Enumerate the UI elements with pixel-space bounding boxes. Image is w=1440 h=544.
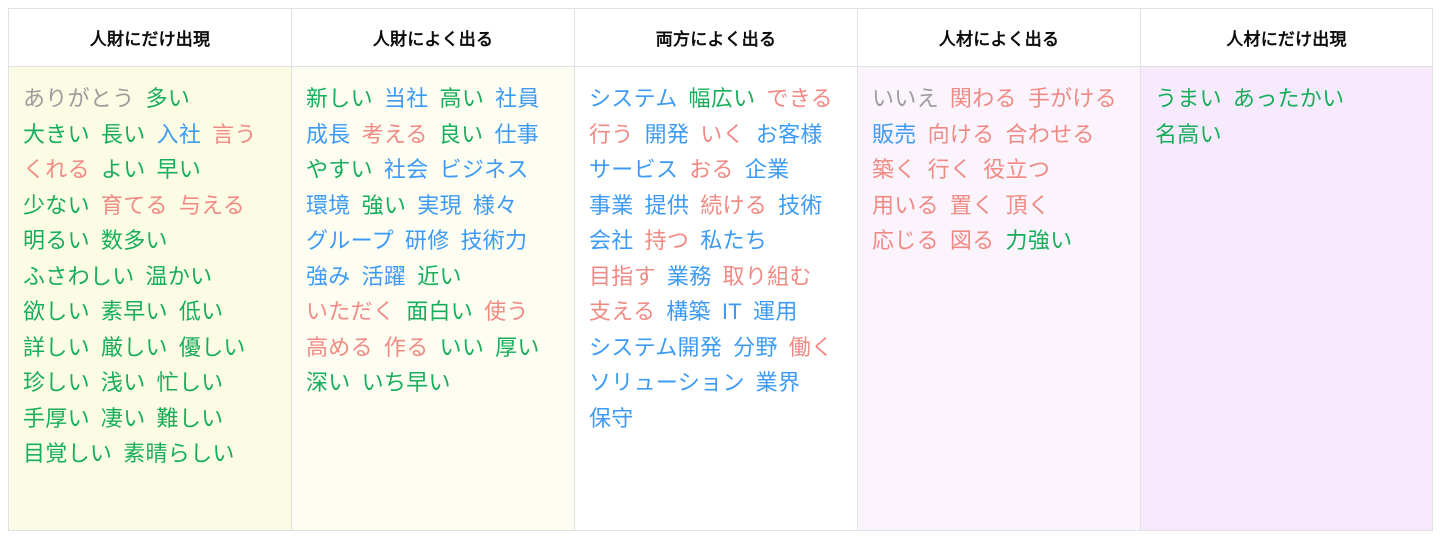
- word-list-4: うまいあったかい名高い: [1155, 81, 1420, 152]
- word-chip: 事業: [589, 193, 634, 218]
- word-chip: 詳しい: [23, 335, 90, 360]
- word-chip: ソリューション: [589, 370, 745, 395]
- word-chip: 使う: [484, 299, 529, 324]
- word-chip: 合わせる: [1006, 122, 1095, 147]
- word-chip: 少ない: [23, 193, 90, 218]
- word-chip: 明るい: [23, 228, 90, 253]
- word-chip: 販売: [872, 122, 917, 147]
- word-chip: 技術: [778, 193, 823, 218]
- word-chip: 手がける: [1028, 86, 1117, 111]
- table-header-row-group: 人財にだけ出現 人財によく出る 両方によく出る 人材によく出る 人材にだけ出現: [9, 9, 1433, 67]
- word-chip: 優しい: [179, 335, 246, 360]
- word-chip: 温かい: [146, 264, 213, 289]
- word-chip: 頂く: [1006, 193, 1051, 218]
- word-chip: 応じる: [872, 228, 939, 253]
- word-chip: 業務: [667, 264, 712, 289]
- word-chip: 幅広い: [689, 86, 756, 111]
- word-chip: あったかい: [1233, 86, 1345, 111]
- word-chip: 面白い: [406, 299, 473, 324]
- word-cell-0: ありがとう多い大きい長い入社言うくれるよい早い少ない育てる与える明るい数多いふさ…: [9, 67, 292, 531]
- word-chip: 深い: [306, 370, 351, 395]
- word-chip: 強み: [306, 264, 351, 289]
- word-chip: 運用: [753, 299, 798, 324]
- word-chip: 社会: [384, 157, 429, 182]
- word-chip: IT: [722, 299, 742, 324]
- word-chip: 社員: [495, 86, 540, 111]
- word-chip: 高い: [440, 86, 485, 111]
- word-chip: 行う: [589, 122, 634, 147]
- word-chip: できる: [766, 86, 832, 111]
- word-list-2: システム幅広いできる行う開発いくお客様サービスおる企業事業提供続ける技術会社持つ…: [589, 81, 845, 436]
- word-chip: 行く: [928, 157, 973, 182]
- word-chip: いち早い: [362, 370, 451, 395]
- word-chip: 言う: [212, 122, 257, 147]
- word-chip: 新しい: [306, 86, 373, 111]
- word-chip: 取り組む: [723, 264, 812, 289]
- word-chip: 考える: [362, 122, 428, 147]
- word-chip: 築く: [872, 157, 917, 182]
- word-chip: いただく: [306, 299, 395, 324]
- word-chip: やすい: [306, 157, 373, 182]
- word-chip: 欲しい: [23, 299, 90, 324]
- word-chip: 成長: [306, 122, 351, 147]
- word-chip: 研修: [405, 228, 450, 253]
- word-chip: 持つ: [645, 228, 690, 253]
- word-chip: 早い: [157, 157, 202, 182]
- word-comparison-table-page: 人財にだけ出現 人財によく出る 両方によく出る 人材によく出る 人材にだけ出現 …: [0, 0, 1440, 544]
- word-chip: 支える: [589, 299, 655, 324]
- word-chip: 企業: [745, 157, 790, 182]
- word-chip: 長い: [101, 122, 146, 147]
- word-chip: よい: [101, 157, 146, 182]
- word-chip: システム開発: [589, 335, 722, 360]
- word-chip: 低い: [179, 299, 224, 324]
- word-chip: 当社: [384, 86, 429, 111]
- word-comparison-table: 人財にだけ出現 人財によく出る 両方によく出る 人材によく出る 人材にだけ出現 …: [8, 8, 1433, 531]
- word-chip: 素晴らしい: [123, 441, 235, 466]
- word-chip: 浅い: [101, 370, 146, 395]
- word-chip: 私たち: [700, 228, 767, 253]
- word-chip: 素早い: [101, 299, 168, 324]
- word-chip: 提供: [645, 193, 690, 218]
- table-body: ありがとう多い大きい長い入社言うくれるよい早い少ない育てる与える明るい数多いふさ…: [9, 67, 1433, 531]
- word-chip: 図る: [950, 228, 995, 253]
- table-header-row: 人財にだけ出現 人財によく出る 両方によく出る 人材によく出る 人材にだけ出現: [9, 9, 1433, 67]
- word-chip: 与える: [179, 193, 245, 218]
- word-chip: 目覚しい: [23, 441, 112, 466]
- word-chip: 業界: [756, 370, 801, 395]
- word-chip: 難しい: [157, 406, 224, 431]
- word-cell-2: システム幅広いできる行う開発いくお客様サービスおる企業事業提供続ける技術会社持つ…: [575, 67, 858, 531]
- word-chip: 環境: [306, 193, 351, 218]
- word-chip: 高める: [306, 335, 373, 360]
- word-chip: 手厚い: [23, 406, 90, 431]
- word-chip: 強い: [362, 193, 407, 218]
- word-chip: 仕事: [494, 122, 539, 147]
- word-list-1: 新しい当社高い社員成長考える良い仕事やすい社会ビジネス環境強い実現様々グループ研…: [306, 81, 562, 401]
- word-chip: ビジネス: [440, 157, 529, 182]
- word-chip: 続ける: [700, 193, 767, 218]
- word-chip: 様々: [473, 193, 518, 218]
- word-cell-4: うまいあったかい名高い: [1141, 67, 1433, 531]
- word-chip: 保守: [589, 406, 634, 431]
- word-cell-1: 新しい当社高い社員成長考える良い仕事やすい社会ビジネス環境強い実現様々グループ研…: [292, 67, 575, 531]
- word-chip: 入社: [157, 122, 202, 147]
- word-chip: 会社: [589, 228, 634, 253]
- word-chip: 近い: [417, 264, 462, 289]
- word-chip: 厚い: [495, 335, 540, 360]
- word-chip: ありがとう: [23, 86, 135, 111]
- word-list-3: いいえ関わる手がける販売向ける合わせる築く行く役立つ用いる置く頂く応じる図る力強…: [872, 81, 1128, 259]
- word-chip: 置く: [950, 193, 995, 218]
- word-chip: うまい: [1155, 86, 1222, 111]
- word-chip: 開発: [645, 122, 690, 147]
- word-chip: 働く: [789, 335, 834, 360]
- word-chip: システム: [589, 86, 678, 111]
- word-chip: 数多い: [101, 228, 168, 253]
- word-chip: 関わる: [950, 86, 1017, 111]
- word-chip: おる: [689, 157, 734, 182]
- word-chip: 目指す: [589, 264, 656, 289]
- word-chip: 名高い: [1155, 122, 1222, 147]
- word-list-0: ありがとう多い大きい長い入社言うくれるよい早い少ない育てる与える明るい数多いふさ…: [23, 81, 279, 472]
- word-chip: 大きい: [23, 122, 90, 147]
- word-chip: 活躍: [362, 264, 407, 289]
- word-chip: グループ: [306, 228, 394, 253]
- column-header-3: 人材によく出る: [858, 9, 1141, 67]
- word-chip: 役立つ: [983, 157, 1050, 182]
- word-chip: 用いる: [872, 193, 939, 218]
- word-chip: 多い: [146, 86, 191, 111]
- word-chip: いいえ: [872, 86, 939, 111]
- column-header-2: 両方によく出る: [575, 9, 858, 67]
- word-chip: いく: [700, 122, 745, 147]
- table-row: ありがとう多い大きい長い入社言うくれるよい早い少ない育てる与える明るい数多いふさ…: [9, 67, 1433, 531]
- word-chip: 分野: [733, 335, 778, 360]
- word-chip: 技術力: [461, 228, 528, 253]
- word-chip: 凄い: [101, 406, 146, 431]
- word-chip: くれる: [23, 157, 90, 182]
- word-chip: サービス: [589, 157, 678, 182]
- word-chip: お客様: [756, 122, 823, 147]
- word-chip: 向ける: [928, 122, 995, 147]
- word-chip: いい: [440, 335, 485, 360]
- column-header-1: 人財によく出る: [292, 9, 575, 67]
- word-chip: 構築: [666, 299, 711, 324]
- word-chip: 育てる: [101, 193, 168, 218]
- word-chip: 実現: [417, 193, 462, 218]
- word-chip: 珍しい: [23, 370, 90, 395]
- column-header-4: 人材にだけ出現: [1141, 9, 1433, 67]
- word-chip: 良い: [439, 122, 484, 147]
- word-chip: 厳しい: [101, 335, 168, 360]
- word-chip: 力強い: [1006, 228, 1073, 253]
- word-chip: ふさわしい: [23, 264, 135, 289]
- word-chip: 忙しい: [157, 370, 224, 395]
- word-chip: 作る: [384, 335, 429, 360]
- word-cell-3: いいえ関わる手がける販売向ける合わせる築く行く役立つ用いる置く頂く応じる図る力強…: [858, 67, 1141, 531]
- column-header-0: 人財にだけ出現: [9, 9, 292, 67]
